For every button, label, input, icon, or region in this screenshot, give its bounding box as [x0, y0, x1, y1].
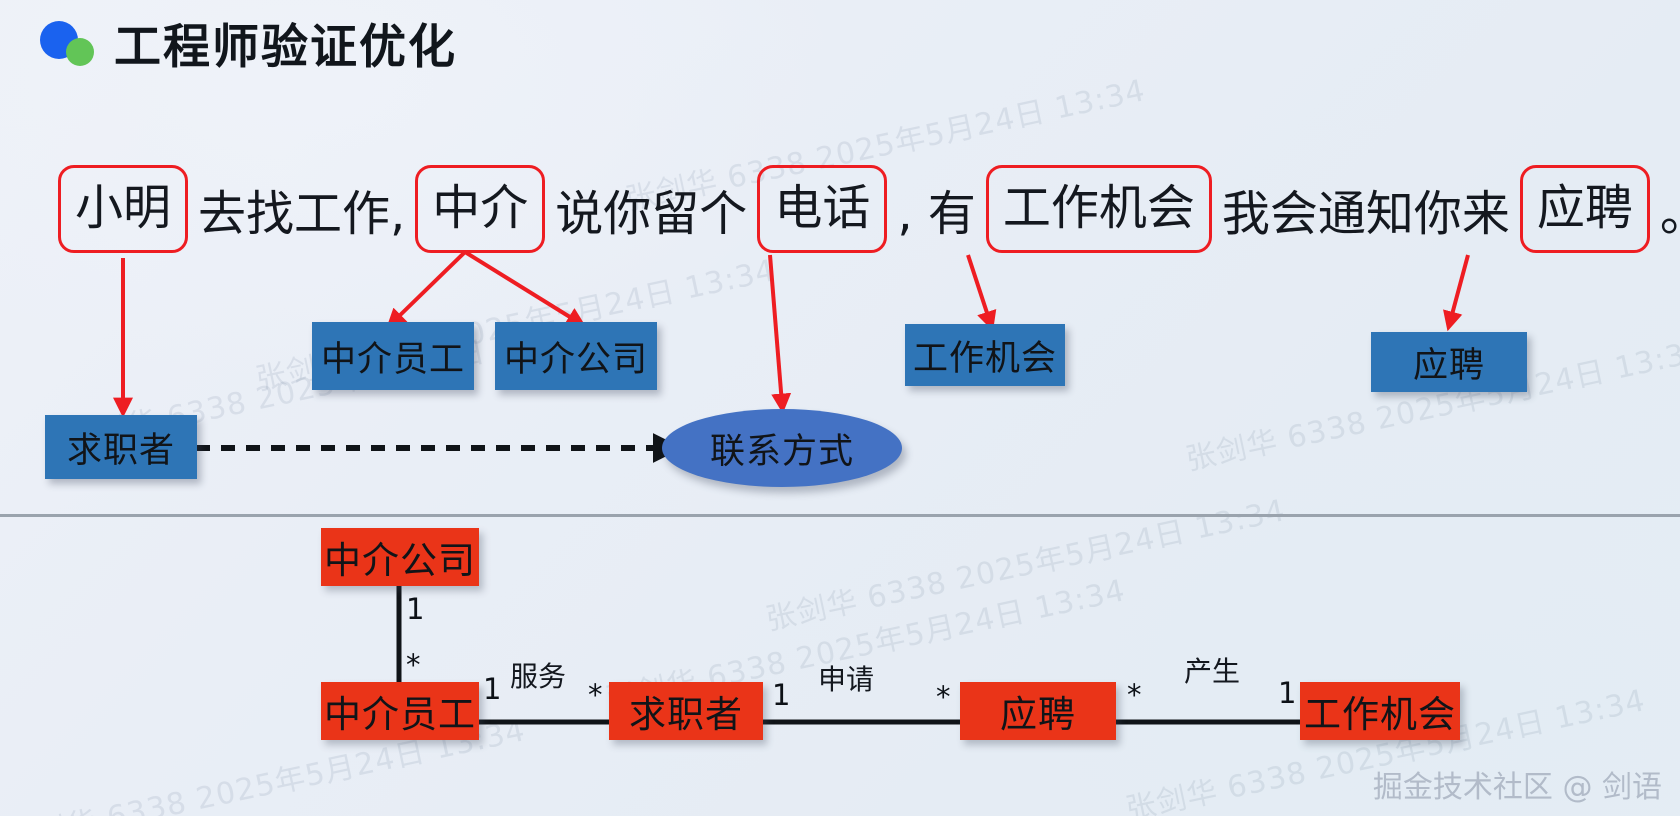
er-cardinality-service-star: *	[588, 678, 603, 712]
er-relationship-label-apply: 申请	[818, 658, 874, 698]
node-jobseeker: 求职者	[45, 415, 197, 479]
er-entity-agency-company: 中介公司	[321, 528, 479, 586]
er-cardinality-service-1: 1	[483, 672, 501, 706]
sentence-text-4: 我会通知你来	[1218, 174, 1514, 244]
sentence-highlight-xiaoming: 小明	[58, 165, 188, 253]
er-relationship-label-generate: 产生	[1184, 650, 1240, 690]
corner-watermark: 掘金技术社区 @ 剑语	[1373, 762, 1662, 806]
slide-header: 工程师验证优化	[36, 8, 457, 77]
er-entity-job-opportunity: 工作机会	[1300, 682, 1460, 740]
node-apply: 应聘	[1371, 332, 1527, 392]
sentence-highlight-yingpin: 应聘	[1520, 165, 1650, 253]
arrow-apply-to-node	[1450, 255, 1468, 322]
watermark-text: 张剑华 6338 2025年5月24日 13:34	[761, 485, 1289, 638]
node-agency-staff: 中介员工	[312, 322, 474, 390]
page-title: 工程师验证优化	[114, 8, 457, 77]
sentence-text-5: 。	[1656, 174, 1680, 244]
sentence-highlight-gongzuojihui: 工作机会	[986, 165, 1212, 253]
er-cardinality-company-1: 1	[406, 592, 424, 626]
node-contact-info: 联系方式	[662, 409, 902, 487]
annotated-sentence: 小明 去找工作, 中介 说你留个 电话 , 有 工作机会 我会通知你来 应聘 。	[52, 165, 1680, 253]
er-entity-agency-staff: 中介员工	[321, 682, 479, 740]
sentence-text-1: 去找工作,	[194, 174, 409, 244]
sentence-highlight-zhongjie: 中介	[415, 165, 545, 253]
arrow-joboppty-to-node	[968, 255, 990, 322]
section-divider	[0, 514, 1680, 517]
er-cardinality-apply-star: *	[936, 680, 951, 714]
logo-green-circle-icon	[66, 38, 94, 66]
arrow-phone-to-contact	[770, 255, 782, 404]
er-entity-jobseeker: 求职者	[609, 682, 763, 740]
logo	[36, 12, 102, 74]
er-cardinality-apply-1: 1	[772, 678, 790, 712]
er-cardinality-generate-1: 1	[1278, 676, 1296, 710]
er-cardinality-generate-star: *	[1127, 678, 1142, 712]
sentence-text-3: , 有	[893, 174, 980, 244]
node-agency-company: 中介公司	[495, 322, 657, 390]
sentence-text-2: 说你留个	[551, 174, 751, 244]
er-entity-apply: 应聘	[960, 682, 1116, 740]
sentence-highlight-dianhua: 电话	[757, 165, 887, 253]
er-relationship-label-service: 服务	[510, 655, 566, 695]
node-job-opportunity: 工作机会	[905, 324, 1065, 386]
arrow-zhongjie-to-company	[465, 252, 578, 322]
slide-canvas: 张剑华 6338 2025年5月24日 13:34 张剑华 6338 2025年…	[0, 0, 1680, 816]
arrow-zhongjie-to-staff	[393, 252, 465, 322]
er-cardinality-staff-star: *	[406, 648, 421, 682]
